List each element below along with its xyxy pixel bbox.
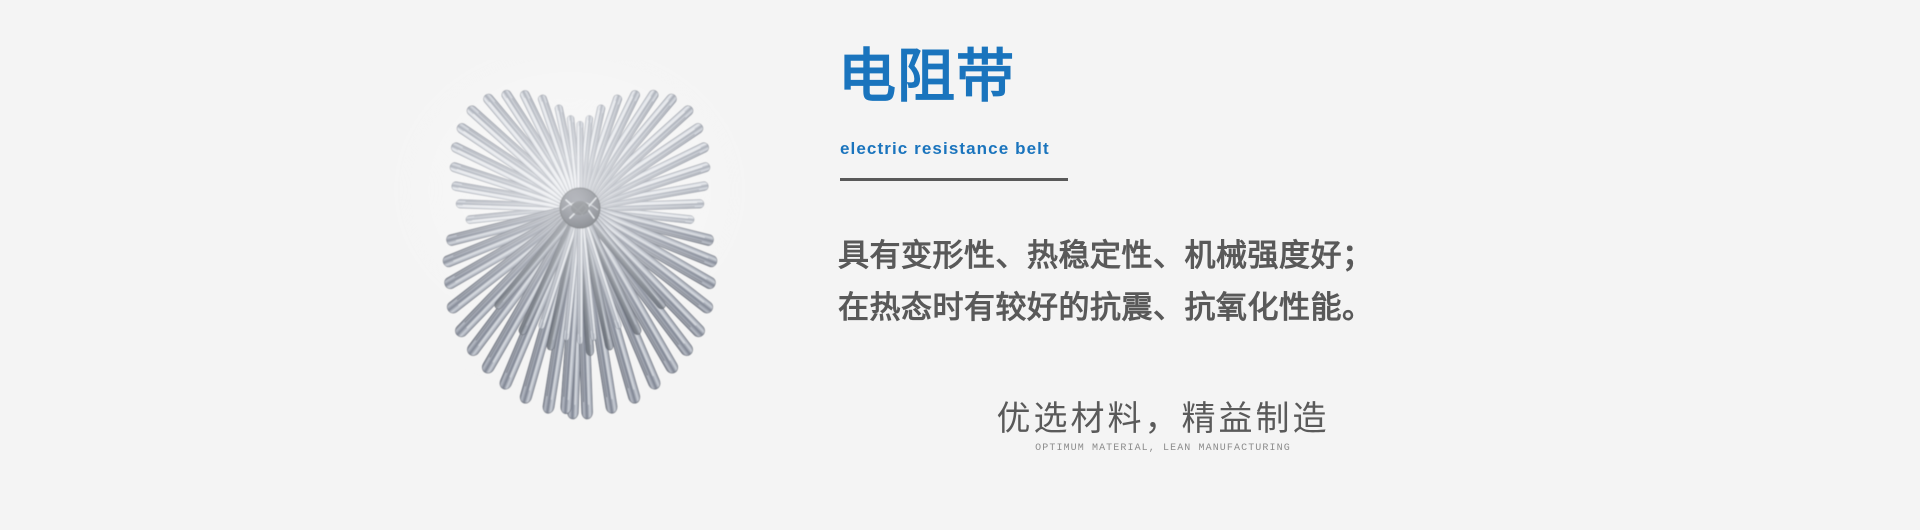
product-banner: 电阻带 electric resistance belt 具有变形性、热稳定性、… (0, 0, 1920, 530)
description-line-2: 在热态时有较好的抗震、抗氧化性能。 (838, 282, 1538, 334)
page-title: 电阻带 (838, 48, 1015, 106)
tagline-cn: 优选材料，精益制造 (953, 398, 1373, 440)
tagline-en: OPTIMUM MATERIAL, LEAN MANUFACTURING (953, 442, 1373, 456)
product-image (355, 60, 805, 440)
page-subtitle: electric resistance belt (840, 140, 1050, 157)
tagline-block: 优选材料，精益制造 OPTIMUM MATERIAL, LEAN MANUFAC… (953, 398, 1373, 456)
description-block: 具有变形性、热稳定性、机械强度好； 在热态时有较好的抗震、抗氧化性能。 (838, 230, 1538, 334)
description-line-1: 具有变形性、热稳定性、机械强度好； (838, 230, 1538, 282)
text-column: 电阻带 electric resistance belt 具有变形性、热稳定性、… (838, 0, 1838, 530)
title-divider (840, 178, 1068, 181)
